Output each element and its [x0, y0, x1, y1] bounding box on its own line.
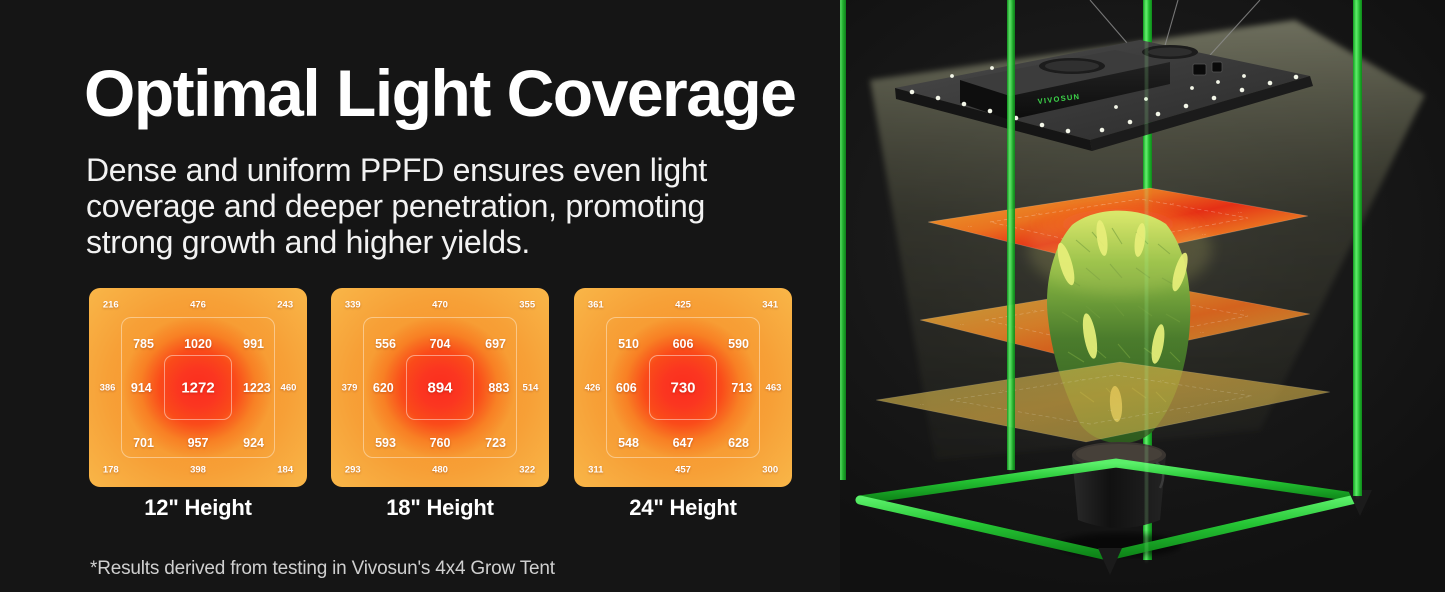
- svg-text:···: ···: [1200, 330, 1205, 335]
- ppfd-value: 704: [430, 337, 451, 351]
- ppfd-value: 556: [375, 337, 396, 351]
- ppfd-value: 924: [243, 436, 264, 450]
- ppfd-value: 311: [588, 465, 603, 476]
- info-panel: Optimal Light Coverage Dense and uniform…: [0, 0, 840, 592]
- ppfd-value: 514: [523, 382, 539, 393]
- svg-text:···: ···: [1080, 377, 1085, 382]
- footnote-text: *Results derived from testing in Vivosun…: [90, 558, 555, 580]
- ppfd-value: 457: [675, 465, 691, 476]
- svg-text:···: ···: [1240, 308, 1245, 313]
- ppfd-value: 723: [485, 436, 506, 450]
- ppfd-value: 341: [762, 299, 778, 310]
- svg-text:···: ···: [1036, 211, 1041, 216]
- svg-text:···: ···: [1186, 410, 1191, 415]
- grow-tent-illustration: VIVOSUN: [840, 0, 1445, 592]
- ppfd-value: 355: [519, 299, 535, 310]
- svg-text:···: ···: [1240, 388, 1245, 393]
- chart-height-label: 12" Height: [89, 495, 307, 521]
- heatmap-canvas: 339 470 355 379 514 293 480 322 556 704 …: [331, 288, 549, 487]
- ppfd-value: 606: [616, 381, 637, 395]
- ppfd-value: 398: [190, 465, 206, 476]
- ppfd-value: 883: [488, 381, 509, 395]
- ppfd-value: 697: [485, 337, 506, 351]
- svg-text:···: ···: [1102, 202, 1107, 207]
- ppfd-value: 628: [728, 436, 749, 450]
- ppfd-value: 379: [342, 382, 358, 393]
- ppfd-chart-24in: 361 425 341 426 463 311 457 300 510 606 …: [574, 288, 792, 487]
- ppfd-value: 425: [675, 299, 691, 310]
- ppfd-value: 293: [345, 465, 361, 476]
- ppfd-value: 460: [281, 382, 297, 393]
- ppfd-value: 701: [133, 436, 154, 450]
- ppfd-value: 593: [375, 436, 396, 450]
- tent-scene: VIVOSUN: [840, 0, 1445, 592]
- ppfd-center-value: 730: [670, 379, 695, 396]
- chart-height-label: 18" Height: [331, 495, 549, 521]
- svg-text:···: ···: [1170, 201, 1175, 206]
- tent-pole-back-left: [840, 0, 846, 480]
- page-title: Optimal Light Coverage: [84, 60, 795, 126]
- ppfd-value: 606: [673, 337, 694, 351]
- ppfd-value: 785: [133, 337, 154, 351]
- ppfd-value: 470: [432, 299, 448, 310]
- ppfd-value: 1223: [243, 381, 271, 395]
- svg-text:···: ···: [1238, 210, 1243, 215]
- heatmap-canvas: 216 476 243 386 460 178 398 184 785 1020…: [89, 288, 307, 487]
- ppfd-value: 361: [588, 299, 604, 310]
- ppfd-value: 620: [373, 381, 394, 395]
- svg-text:···: ···: [1160, 378, 1165, 383]
- ppfd-value: 216: [103, 299, 119, 310]
- heatmap-canvas: 361 425 341 426 463 311 457 300 510 606 …: [574, 288, 792, 487]
- svg-text:···: ···: [1032, 308, 1037, 313]
- ppfd-chart-18in: 339 470 355 379 514 293 480 322 556 704 …: [331, 288, 549, 487]
- ppfd-value: 426: [585, 382, 601, 393]
- ppfd-value: 647: [673, 436, 694, 450]
- ppfd-value: 1020: [184, 337, 212, 351]
- ppfd-value: 386: [100, 382, 116, 393]
- ppfd-chart-12in: 216 476 243 386 460 178 398 184 785 1020…: [89, 288, 307, 487]
- tent-foot-front: [1098, 548, 1122, 575]
- ppfd-center-value: 1272: [181, 379, 214, 396]
- ppfd-value: 300: [762, 465, 778, 476]
- chart-height-label: 24" Height: [574, 495, 792, 521]
- svg-text:···: ···: [1030, 418, 1035, 423]
- ppfd-value: 590: [728, 337, 749, 351]
- tent-scene-svg: VIVOSUN: [840, 0, 1445, 592]
- svg-text:···: ···: [968, 224, 973, 229]
- ppfd-value: 243: [277, 299, 293, 310]
- svg-text:···: ···: [1000, 388, 1005, 393]
- ppfd-center-value: 894: [427, 379, 452, 396]
- ppfd-value: 760: [430, 436, 451, 450]
- ppfd-value: 184: [277, 465, 293, 476]
- ppfd-value: 713: [731, 381, 752, 395]
- ppfd-value: 510: [618, 337, 639, 351]
- svg-text:···: ···: [1108, 408, 1113, 413]
- ppfd-value: 463: [766, 382, 782, 393]
- ppfd-value: 476: [190, 299, 206, 310]
- ppfd-value: 178: [103, 465, 119, 476]
- ppfd-value: 339: [345, 299, 361, 310]
- ppfd-value: 914: [131, 381, 152, 395]
- ppfd-value: 957: [188, 436, 209, 450]
- svg-text:···: ···: [920, 402, 925, 407]
- ppfd-value: 322: [519, 465, 535, 476]
- ppfd-value: 548: [618, 436, 639, 450]
- ppfd-value: 480: [432, 465, 448, 476]
- svg-text:···: ···: [960, 322, 965, 327]
- subtitle-text: Dense and uniform PPFD ensures even ligh…: [86, 152, 746, 260]
- ppfd-value: 991: [243, 337, 264, 351]
- ppfd-charts-row: 216 476 243 386 460 178 398 184 785 1020…: [89, 288, 799, 487]
